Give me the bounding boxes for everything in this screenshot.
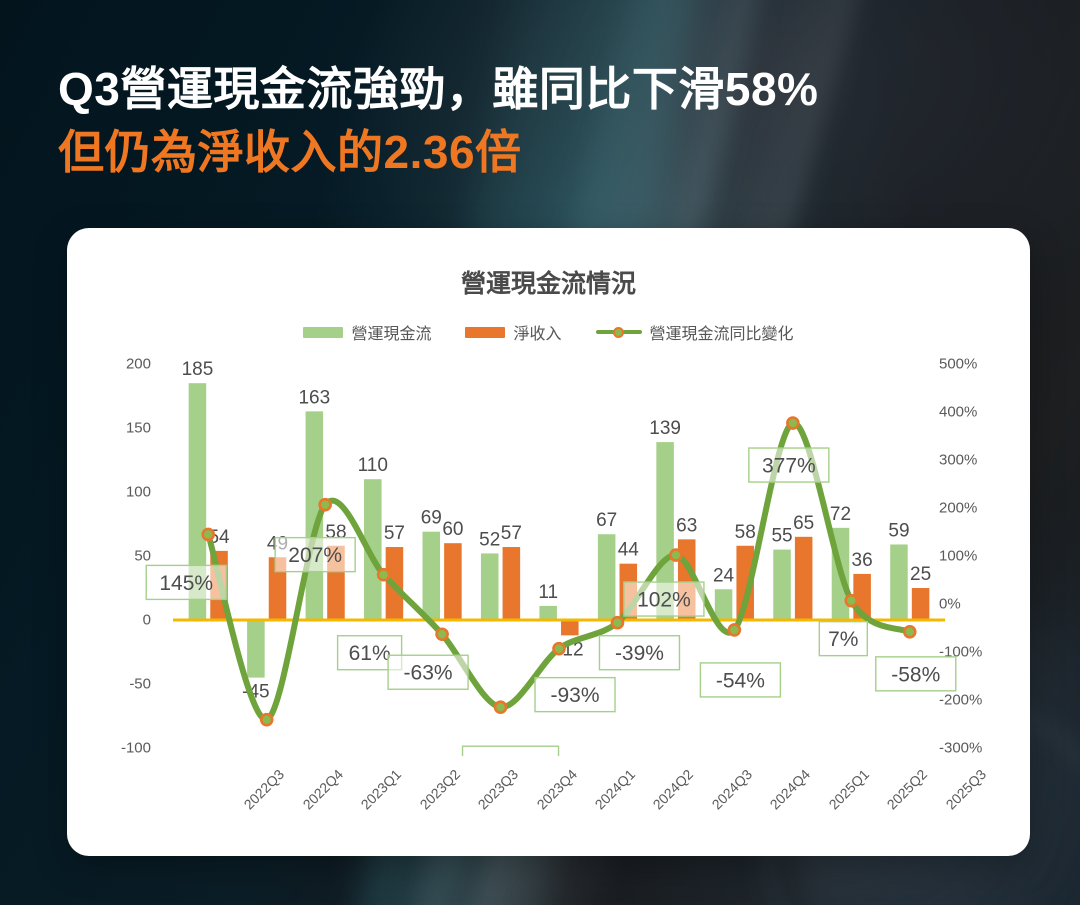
bar-value-label: 55 (771, 526, 792, 547)
trend-point (495, 702, 506, 713)
bar-value-label: 163 (298, 387, 330, 408)
trend-point (612, 617, 623, 628)
bar-value-label: 69 (421, 508, 442, 529)
bar-value-label: 11 (538, 582, 558, 603)
percent-callout: 102% (624, 582, 704, 616)
percent-callout: 207% (275, 538, 355, 572)
legend-item-yoy-change[interactable]: 營運現金流同比變化 (596, 320, 794, 344)
slide-root: Q3營運現金流強勁，雖同比下滑58% 但仍為淨收入的2.36倍 營運現金流情況 … (0, 0, 1080, 905)
bar (890, 544, 908, 620)
chart-card: 營運現金流情況 營運現金流 淨收入 營運現金流同比變化 200150100500… (67, 228, 1030, 856)
percent-callout: 7% (819, 622, 867, 656)
legend-label-cash-flow: 營運現金流 (351, 320, 431, 344)
svg-text:-63%: -63% (404, 662, 453, 685)
category-label: 2024Q3 (709, 766, 756, 813)
category-label: 2023Q4 (533, 766, 580, 813)
bar (481, 553, 499, 620)
trend-point (320, 499, 331, 510)
percent-callout: 145% (146, 565, 226, 599)
trend-point (787, 418, 798, 429)
category-label: 2024Q1 (592, 766, 639, 813)
legend-swatch-cash-flow (303, 327, 343, 338)
chart-canvas: 18554-454916358110576960525711-126744139… (67, 356, 1030, 756)
category-label: 2022Q3 (241, 766, 288, 813)
bar-value-label: 139 (649, 418, 681, 439)
bar (503, 547, 521, 620)
svg-text:-58%: -58% (891, 663, 940, 686)
bar (795, 537, 813, 620)
bar (715, 589, 733, 620)
percent-callout: -63% (388, 655, 468, 689)
bar (247, 620, 265, 678)
percent-callout: -93% (535, 678, 615, 712)
legend-item-net-income[interactable]: 淨收入 (465, 320, 561, 344)
bar (598, 534, 616, 620)
bar-value-label: 67 (596, 510, 617, 531)
svg-text:377%: 377% (762, 455, 816, 478)
trend-point (846, 595, 857, 606)
legend-swatch-net-income (465, 327, 505, 338)
trend-point (203, 529, 214, 540)
category-label: 2023Q1 (358, 766, 405, 813)
bar (539, 606, 557, 620)
plot-area: 200150100500-50-100 500%400%300%200%100%… (67, 356, 1030, 856)
bar-value-label: 44 (618, 540, 640, 561)
legend-marker-yoy-change (596, 325, 642, 339)
svg-text:61%: 61% (349, 642, 391, 665)
bar (773, 550, 791, 620)
svg-text:145%: 145% (159, 572, 213, 595)
bar-value-label: 185 (182, 359, 214, 380)
bar-value-label: 72 (830, 504, 851, 525)
svg-text:207%: 207% (288, 544, 342, 567)
bar-value-label: 36 (852, 550, 873, 571)
bar-value-label: 57 (501, 523, 522, 544)
trend-point (554, 643, 565, 654)
category-label: 2023Q2 (416, 766, 463, 813)
category-label: 2023Q3 (475, 766, 522, 813)
bar (422, 532, 440, 620)
trend-point (729, 624, 740, 635)
trend-point (670, 550, 681, 561)
bar-value-label: 58 (735, 522, 756, 543)
category-label: 2025Q1 (825, 766, 872, 813)
trend-point (378, 569, 389, 580)
svg-text:7%: 7% (828, 628, 858, 651)
trend-point (437, 629, 448, 640)
category-label: 2022Q4 (299, 766, 346, 813)
headline: Q3營運現金流強勁，雖同比下滑58% 但仍為淨收入的2.36倍 (58, 58, 1038, 185)
svg-text:102%: 102% (637, 589, 691, 612)
category-label: 2025Q2 (884, 766, 931, 813)
bar-value-label: 65 (793, 513, 814, 534)
trend-point (904, 626, 915, 637)
percent-callout: -58% (876, 657, 956, 691)
bar-value-label: 60 (442, 519, 463, 540)
headline-line-2: 但仍為淨收入的2.36倍 (58, 121, 1038, 184)
bar-value-label: 52 (479, 529, 500, 550)
legend-label-yoy-change: 營運現金流同比變化 (650, 320, 794, 344)
bar-value-label: 59 (888, 520, 909, 541)
bar-value-label: 63 (676, 515, 697, 536)
chart-legend: 營運現金流 淨收入 營運現金流同比變化 (67, 320, 1030, 344)
category-axis: 2022Q32022Q42023Q12023Q22023Q32023Q42024… (67, 756, 1030, 846)
trend-point (261, 714, 272, 725)
category-label: 2024Q2 (650, 766, 697, 813)
bar (912, 588, 930, 620)
headline-line-1: Q3營運現金流強勁，雖同比下滑58% (58, 58, 1038, 121)
bar-value-label: 110 (358, 455, 388, 476)
category-label: 2025Q3 (942, 766, 989, 813)
bar (561, 620, 579, 635)
legend-label-net-income: 淨收入 (513, 320, 561, 344)
percent-callout: -215% (463, 746, 559, 756)
legend-item-cash-flow[interactable]: 營運現金流 (303, 320, 431, 344)
bar-value-label: 24 (713, 565, 735, 586)
bar-value-label: 57 (384, 523, 405, 544)
svg-text:-54%: -54% (716, 669, 765, 692)
percent-callout: -54% (700, 663, 780, 697)
category-label: 2024Q4 (767, 766, 814, 813)
bar-value-label: 25 (910, 564, 931, 585)
svg-text:-39%: -39% (615, 642, 664, 665)
percent-callout: -39% (599, 636, 679, 670)
bar (444, 543, 462, 620)
chart-title: 營運現金流情況 (67, 264, 1030, 300)
percent-callout: 377% (749, 448, 829, 482)
svg-text:-93%: -93% (550, 684, 599, 707)
